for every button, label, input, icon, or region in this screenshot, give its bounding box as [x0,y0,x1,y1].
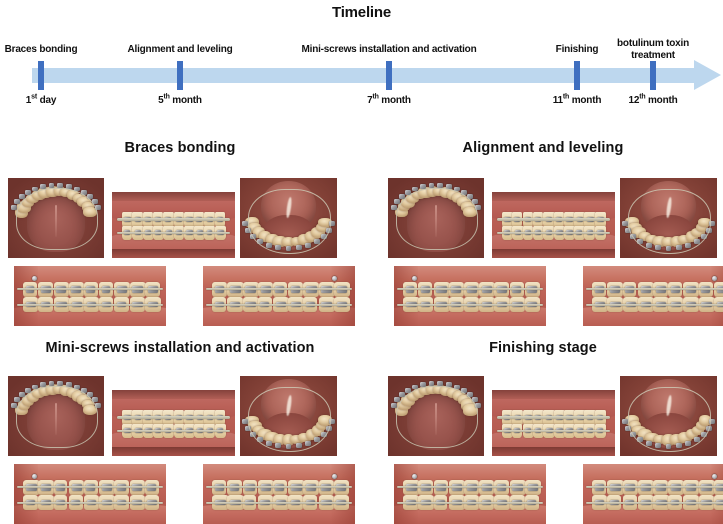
timeline-event-label: botulinum toxin treatment [608,38,698,61]
timeline-event-label: Alignment and leveling [105,44,255,56]
panel-title-finishing-stage: Finishing stage [363,340,723,356]
panel-title-braces-bonding: Braces bonding [0,140,360,156]
timeline-tick-2 [177,61,183,90]
occlusal-lower-photo [240,178,337,258]
occlusal-upper-photo [388,376,484,456]
lateral-left-photo [203,266,355,326]
lateral-right-photo [394,266,546,326]
lateral-left-photo [583,266,723,326]
lateral-right-photo [14,266,166,326]
panel-title-alignment-and-leveling: Alignment and leveling [363,140,723,156]
timeline-event-label: Mini-screws installation and activation [274,44,504,56]
timeline-tick-5 [650,61,656,90]
occlusal-lower-photo [240,376,337,456]
occlusal-upper-photo [388,178,484,258]
timeline-event-label: Braces bonding [0,44,89,56]
timeline-time-label: 11th month [534,95,620,106]
timeline-tick-4 [574,61,580,90]
frontal-photo [492,390,615,456]
timeline-bar [32,68,697,83]
frontal-photo [112,390,235,456]
timeline-time-label: 5th month [137,95,223,106]
occlusal-upper-photo [8,178,104,258]
timeline-time-label: 7th month [346,95,432,106]
timeline-arrow-icon [694,60,721,90]
timeline-time-label: 12th month [610,95,696,106]
timeline-section: Timeline Braces bonding1st dayAlignment … [0,0,723,120]
occlusal-lower-photo [620,376,717,456]
panel-title-mini-screws: Mini-screws installation and activation [0,340,360,356]
timeline-tick-3 [386,61,392,90]
lateral-left-photo [583,464,723,524]
occlusal-lower-photo [620,178,717,258]
lateral-left-photo [203,464,355,524]
lateral-right-photo [394,464,546,524]
timeline-time-label: 1st day [0,95,84,106]
frontal-photo [112,192,235,258]
timeline-tick-1 [38,61,44,90]
lateral-right-photo [14,464,166,524]
timeline-event-label: Finishing [542,44,612,56]
frontal-photo [492,192,615,258]
occlusal-upper-photo [8,376,104,456]
